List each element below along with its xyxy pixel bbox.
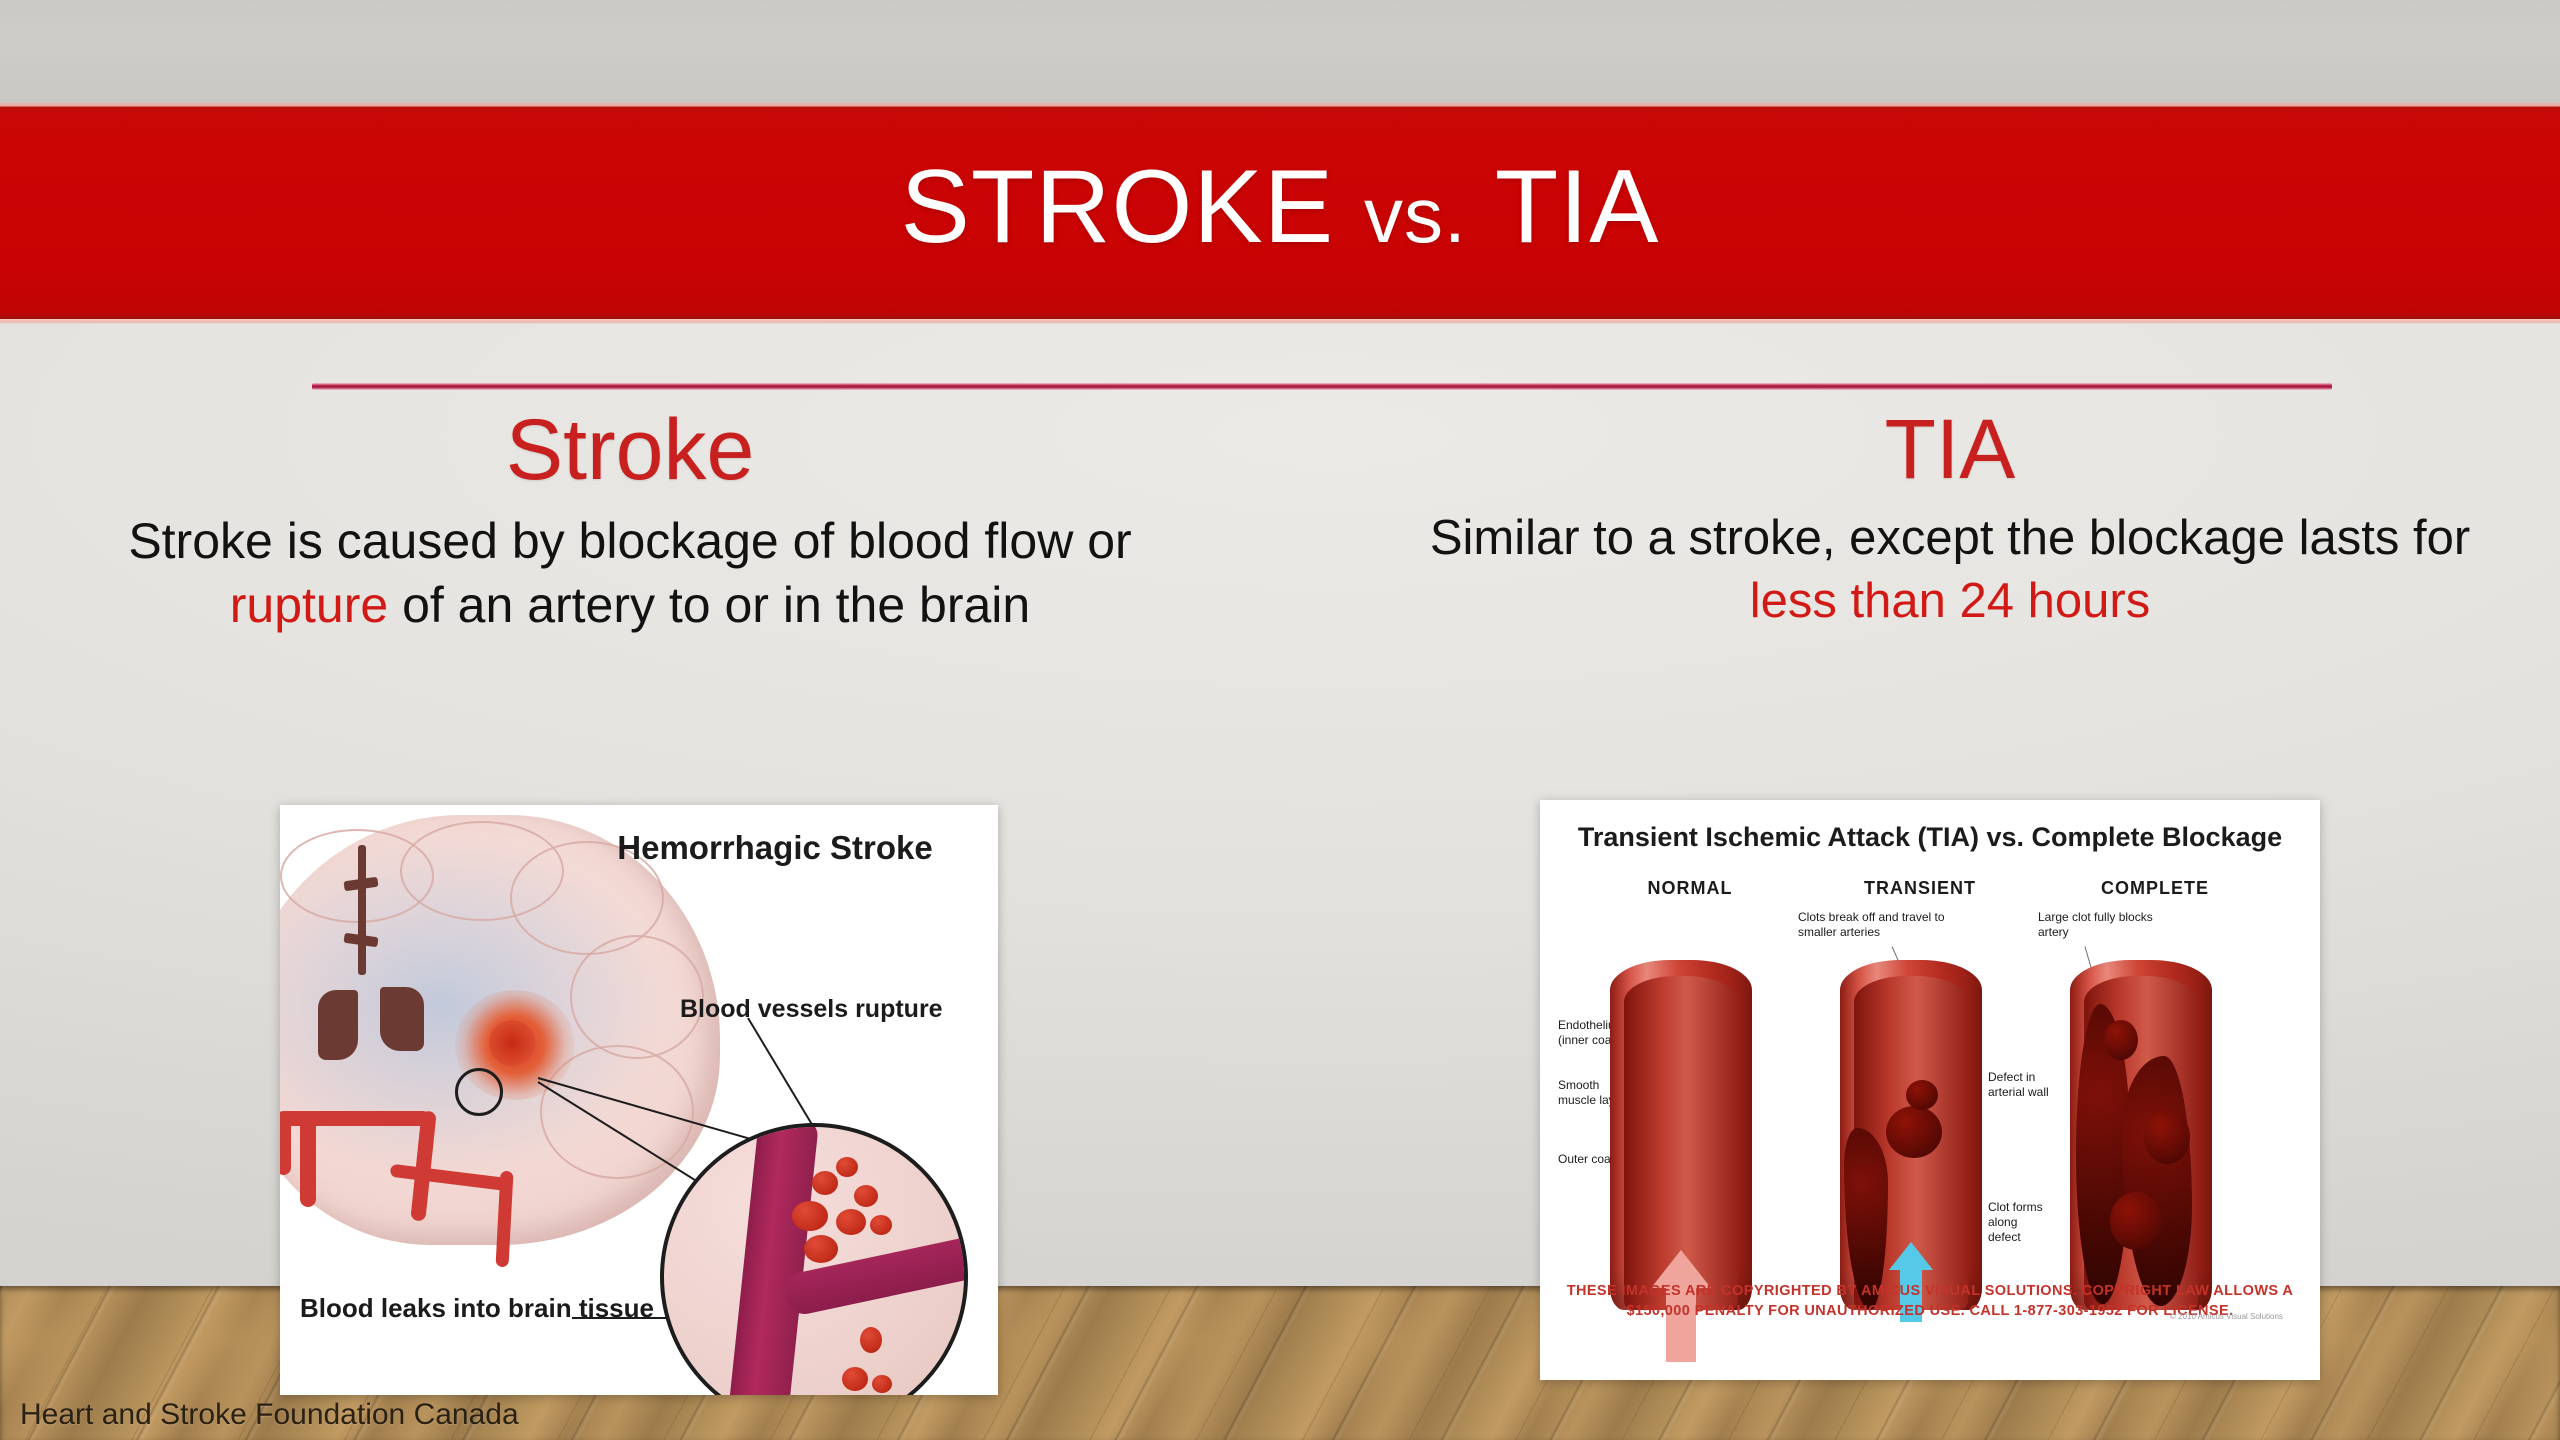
hemorrhagic-stroke-image: Hemorrhagic Stroke Blood vessels rupture… xyxy=(280,805,998,1395)
note-clot-forms: Clot forms along defect xyxy=(1988,1200,2050,1245)
title-word-stroke: STROKE xyxy=(900,149,1334,265)
vessel-main xyxy=(725,1123,819,1395)
banner-underline xyxy=(0,319,2560,324)
title-connector: vs. xyxy=(1364,171,1467,259)
slide-canvas: STROKE vs. TIA Stroke Stroke is caused b… xyxy=(0,0,2560,1440)
artery-complete xyxy=(2070,960,2212,1310)
amicus-credit: © 2010 Amicus Visual Solutions xyxy=(2170,1312,2283,1321)
tia-heading: TIA xyxy=(1395,405,2505,493)
tia-column-header-normal: NORMAL xyxy=(1580,878,1800,899)
column-tia: TIA Similar to a stroke, except the bloc… xyxy=(1395,405,2505,633)
artery-normal xyxy=(1610,960,1752,1310)
label-blood-leaks: Blood leaks into brain tissue xyxy=(300,1293,654,1324)
column-stroke: Stroke Stroke is caused by blockage of b… xyxy=(100,405,1160,637)
note-clots-break-off: Clots break off and travel to smaller ar… xyxy=(1798,910,1958,940)
tia-text-before: Similar to a stroke, except the blockage… xyxy=(1430,511,2470,565)
slide-title: STROKE vs. TIA xyxy=(900,155,1659,259)
artery-transient xyxy=(1840,960,1982,1310)
stroke-heading: Stroke xyxy=(100,405,1160,495)
tia-vs-blockage-image: Transient Ischemic Attack (TIA) vs. Comp… xyxy=(1540,800,2320,1380)
title-word-tia: TIA xyxy=(1495,149,1660,265)
tia-description: Similar to a stroke, except the blockage… xyxy=(1395,507,2505,632)
stroke-text-after: of an artery to or in the brain xyxy=(388,577,1030,633)
note-large-clot: Large clot fully blocks artery xyxy=(2038,910,2168,940)
brain-cross-section-illustration xyxy=(280,815,720,1245)
footer-credit: Heart and Stroke Foundation Canada xyxy=(20,1398,519,1432)
title-banner: STROKE vs. TIA xyxy=(0,103,2560,319)
background-top-band xyxy=(0,0,2560,104)
magnifier-source-circle xyxy=(455,1068,503,1116)
stroke-text-before: Stroke is caused by blockage of blood fl… xyxy=(128,513,1131,569)
hemorrhagic-stroke-title: Hemorrhagic Stroke xyxy=(610,829,940,867)
tia-column-header-transient: TRANSIENT xyxy=(1810,878,2030,899)
tia-column-header-complete: COMPLETE xyxy=(2040,878,2270,899)
stroke-text-highlight: rupture xyxy=(230,577,388,633)
note-defect-wall: Defect in arterial wall xyxy=(1988,1070,2058,1100)
label-blood-vessels-rupture: Blood vessels rupture xyxy=(680,995,943,1024)
content-divider-rule xyxy=(312,383,2332,390)
travelling-clot xyxy=(1886,1106,1942,1158)
tia-diagram-title: Transient Ischemic Attack (TIA) vs. Comp… xyxy=(1540,822,2320,853)
magnified-vessel-rupture-view xyxy=(660,1123,968,1395)
tia-text-highlight: less than 24 hours xyxy=(1750,574,2150,628)
stroke-description: Stroke is caused by blockage of blood fl… xyxy=(100,509,1160,637)
